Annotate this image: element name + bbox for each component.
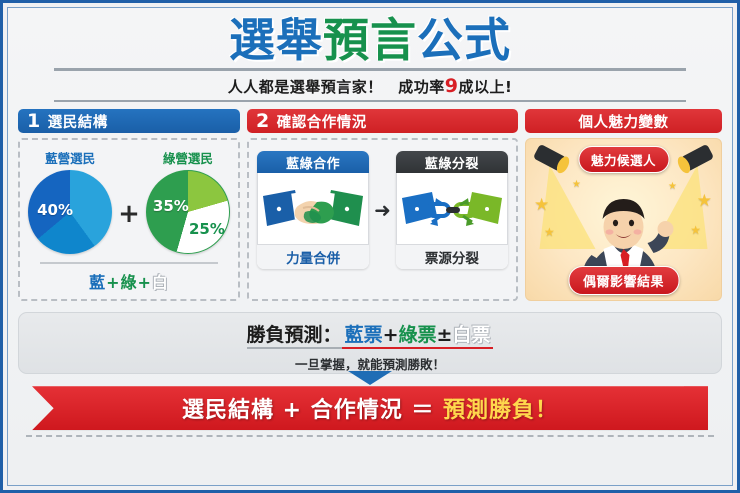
- pie-blue-value: 40%: [37, 203, 73, 218]
- formula-expression: 藍票+綠票±白票: [342, 324, 494, 349]
- formula-op-1: +: [383, 324, 399, 346]
- banner-right: 預測勝負！: [443, 398, 558, 423]
- section-3-header: 個人魅力變數: [525, 109, 722, 133]
- conclusion-banner: 選民結構 + 合作情況 ＝ 預測勝負！: [32, 386, 708, 430]
- star-icon: ★: [668, 181, 677, 192]
- pie-green-label: 綠營選民: [146, 148, 230, 167]
- pie-blue-block: 藍營選民 40%: [28, 148, 112, 254]
- banner-left: 選民結構 + 合作情況 ＝: [182, 398, 443, 423]
- section-1-number: 1: [27, 112, 41, 131]
- cooperation-cards: 藍綠合作: [249, 140, 516, 269]
- section-2-title: 確認合作情況: [277, 111, 367, 132]
- banner-text: 選民結構 + 合作情況 ＝ 預測勝負！: [182, 392, 558, 424]
- pie-white-value: 25%: [189, 222, 225, 237]
- section-1-title: 選民結構: [48, 111, 108, 132]
- card-cooperation: 藍綠合作: [257, 151, 369, 269]
- card-split: 藍綠分裂: [396, 151, 508, 269]
- section-charisma: 個人魅力變數 魅力候選人: [525, 109, 722, 305]
- star-icon: ★: [690, 223, 701, 237]
- section-2-number: 2: [256, 112, 270, 131]
- badge-affects-results: 偶爾影響結果: [568, 266, 679, 295]
- card-cooperation-header: 藍綠合作: [257, 151, 369, 173]
- subtitle-after: 成以上!: [458, 78, 512, 96]
- footer-white: 白: [152, 273, 169, 292]
- formula-green-votes: 綠票: [399, 324, 437, 346]
- star-icon: ★: [572, 179, 581, 190]
- pie-chart-green: 35% 25%: [146, 170, 230, 254]
- title-part-2: 預言: [323, 13, 417, 67]
- formula-line: 勝負預測：藍票+綠票±白票: [19, 320, 721, 347]
- card-cooperation-footer: 力量合併: [257, 245, 369, 269]
- star-icon: ★: [544, 225, 555, 239]
- section-2-body: 藍綠合作: [247, 138, 518, 301]
- title-block: 選舉預言公式 人人都是選舉預言家！ 成功率9成以上!: [18, 16, 722, 102]
- section-voter-structure: 1 選民結構 藍營選民 40% + 綠營選民 35%: [18, 109, 240, 305]
- prediction-formula-box: 勝負預測：藍票+綠票±白票 一旦掌握，就能預測勝敗！: [18, 312, 722, 374]
- formula-label: 勝負預測：: [247, 324, 342, 349]
- formula-blue-votes: 藍票: [345, 324, 383, 346]
- arrow-down-icon: [348, 371, 392, 385]
- arrow-right-icon: ➜: [374, 200, 391, 220]
- pie-chart-blue: 40%: [28, 170, 112, 254]
- formula-white-votes: 白票: [452, 324, 490, 346]
- star-icon: ★: [534, 195, 549, 215]
- section-2-header: 2 確認合作情況: [247, 109, 518, 133]
- section-3-title: 個人魅力變數: [579, 111, 669, 132]
- bottom-dashed-rule: [26, 435, 714, 437]
- infographic-page: 選舉預言公式 人人都是選舉預言家！ 成功率9成以上! 1 選民結構 藍營選民 4…: [0, 0, 740, 493]
- title-part-3: 公式: [417, 13, 511, 67]
- footer-blue: 藍: [89, 273, 106, 292]
- pie-plus-operator: +: [118, 199, 140, 229]
- section-cooperation: 2 確認合作情況 藍綠合作: [247, 109, 518, 305]
- conclusion-banner-wrap: 選民結構 + 合作情況 ＝ 預測勝負！: [18, 386, 722, 430]
- pie-green-value: 35%: [153, 199, 189, 214]
- formula-op-2: ±: [437, 324, 453, 346]
- title-divider-bottom: [54, 100, 686, 102]
- pie-chart-group: 藍營選民 40% + 綠營選民 35% 25%: [20, 140, 238, 254]
- footer-op-2: +: [138, 273, 152, 292]
- title-part-1: 選舉: [229, 13, 323, 67]
- footer-green: 綠: [120, 273, 137, 292]
- card-split-footer: 票源分裂: [396, 245, 508, 269]
- subtitle: 人人都是選舉預言家！ 成功率9成以上!: [18, 71, 722, 100]
- section-1-body: 藍營選民 40% + 綠營選民 35% 25% 藍: [18, 138, 240, 301]
- badge-charismatic-candidate: 魅力候選人: [578, 146, 669, 173]
- pie-green-block: 綠營選民 35% 25%: [146, 148, 230, 254]
- subtitle-highlight: 9: [445, 75, 459, 97]
- infographic-frame: 選舉預言公式 人人都是選舉預言家！ 成功率9成以上! 1 選民結構 藍營選民 4…: [7, 7, 733, 486]
- section-1-header: 1 選民結構: [18, 109, 240, 133]
- page-title: 選舉預言公式: [18, 16, 722, 64]
- footer-op-1: +: [106, 273, 120, 292]
- pie-blue-label: 藍營選民: [28, 148, 112, 167]
- card-split-header: 藍綠分裂: [396, 151, 508, 173]
- broken-chain-icon: [396, 173, 508, 245]
- star-icon: ★: [697, 191, 712, 211]
- subtitle-before: 人人都是選舉預言家！ 成功率: [228, 78, 445, 96]
- handshake-icon: [257, 173, 369, 245]
- pie-footer-formula: 藍+綠+白: [20, 264, 238, 293]
- section-3-body: 魅力候選人: [525, 138, 722, 301]
- sections-row: 1 選民結構 藍營選民 40% + 綠營選民 35%: [18, 109, 722, 305]
